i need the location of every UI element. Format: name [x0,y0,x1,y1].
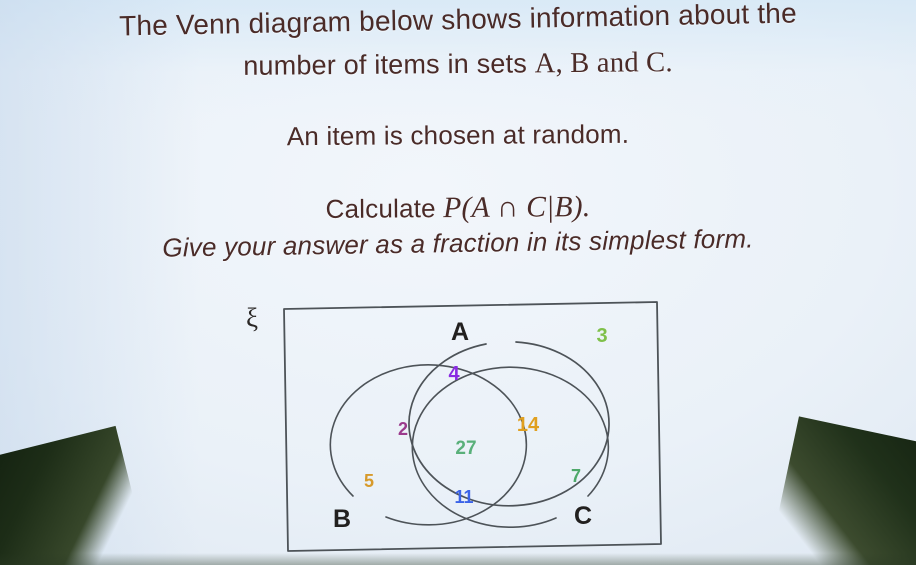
question-line-2-prefix: number of items in sets [243,48,535,81]
set-label-b: B [333,505,351,533]
region-count-outside: 3 [596,325,607,347]
region-count-a-b-c: 27 [455,438,476,459]
venn-diagram-svg: ξ A B C 4 2 14 27 5 11 7 3 [238,292,668,557]
region-count-c-only: 7 [571,466,581,486]
photo-edge-bottom-left [0,426,159,565]
calculate-label: Calculate [325,193,443,224]
question-line-3: An item is chosen at random. [0,117,916,154]
set-label-a: A [451,318,469,346]
region-count-a-and-c-only: 14 [517,414,540,436]
region-count-b-and-c-only: 11 [454,487,473,507]
universal-set-symbol: ξ [246,303,258,333]
whiteboard-photo: The Venn diagram below shows information… [0,0,916,565]
question-line-1: The Venn diagram below shows information… [0,0,916,45]
question-line-5: Give your answer as a fraction in its si… [0,221,916,266]
set-label-c: C [574,502,592,530]
circle-b [330,365,526,525]
question-line-2: number of items in sets A, B and C. [0,44,916,85]
region-count-a-and-b-only: 2 [398,419,408,439]
photo-glare-left [0,0,200,565]
region-count-a-only: 4 [448,363,460,385]
region-count-b-only: 5 [364,471,374,491]
venn-diagram: ξ A B C 4 2 14 27 5 11 7 3 [238,292,668,557]
photo-edge-bottom-right [757,416,916,565]
question-line-2-sets: A, B and C. [535,46,673,79]
probability-formula: P(A ∩ C|B). [443,191,590,224]
